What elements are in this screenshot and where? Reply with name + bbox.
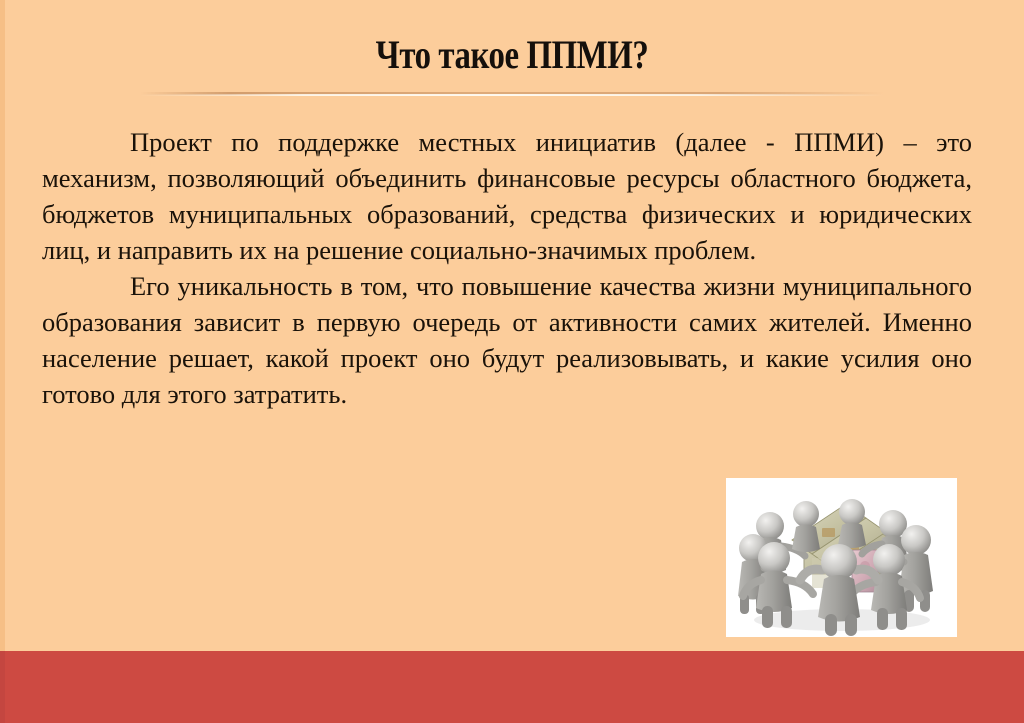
paragraph-1: Проект по поддержке местных инициатив (д… [42,124,972,268]
bottom-band-edge-stripe [0,651,5,723]
left-edge-stripe [0,0,5,651]
paragraph-2: Его уникальность в том, что повышение ка… [42,268,972,412]
presentation-slide: Что такое ППМИ? Проект по поддержке мест… [0,0,1024,723]
bottom-color-band [0,651,1024,723]
illustration-image [726,478,957,637]
page-title: Что такое ППМИ? [92,34,932,76]
body-text: Проект по поддержке местных инициатив (д… [42,124,972,412]
title-divider-highlight [140,94,884,96]
people-circle-around-banknote-house-icon [726,478,957,637]
